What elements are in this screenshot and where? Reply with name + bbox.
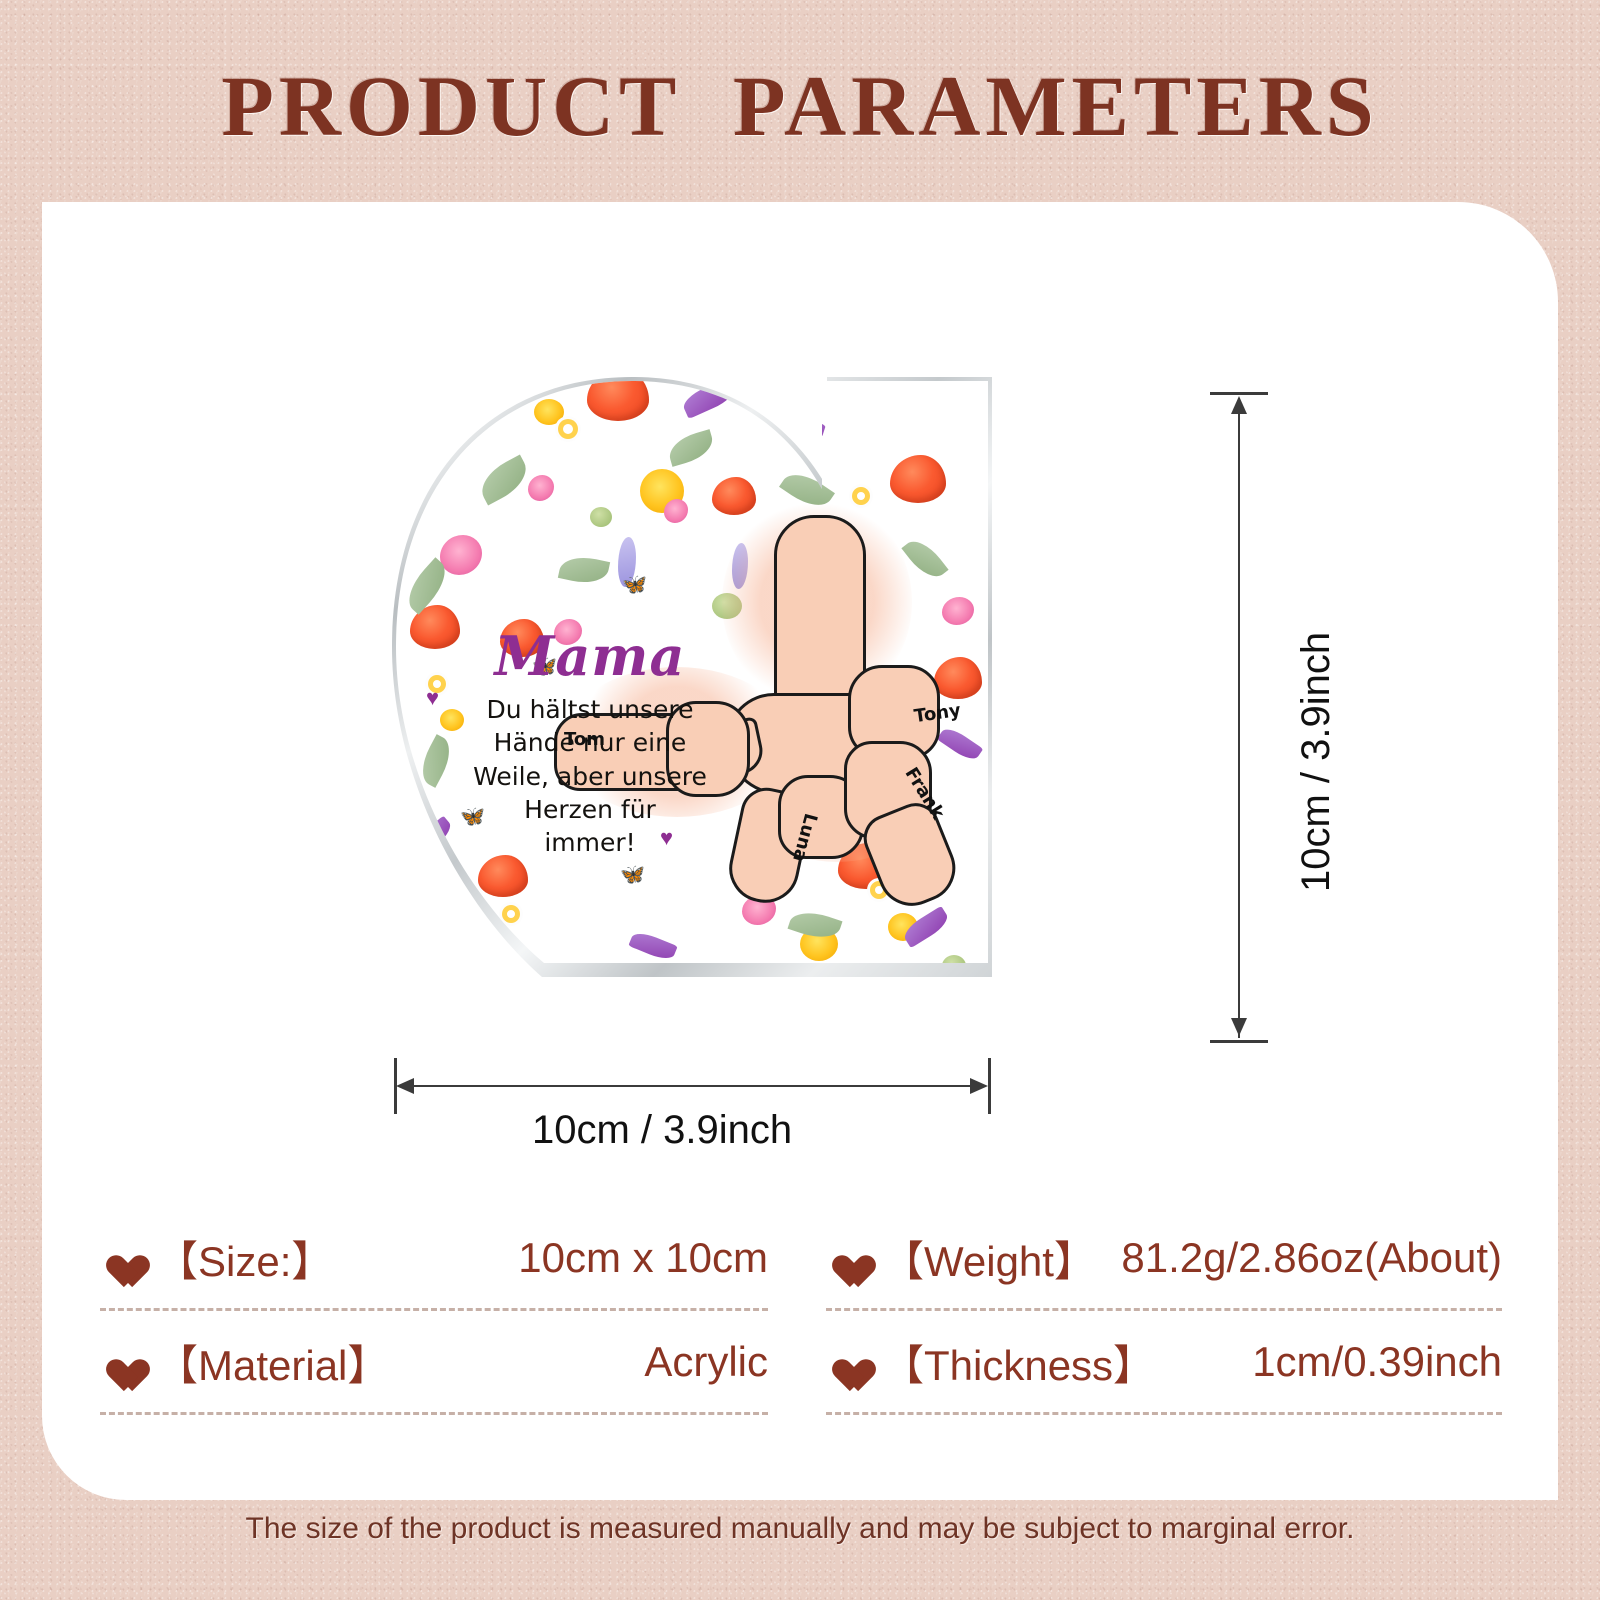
spec-divider [826, 1308, 1502, 1311]
dim-arrow-down [1231, 1018, 1247, 1036]
dim-arrow-up [1231, 396, 1247, 414]
heart-icon [826, 1345, 864, 1379]
dimension-horizontal-label: 10cm / 3.9inch [532, 1108, 792, 1153]
content-card: 🦋 🦋 🦋 🦋 🦋 🦋 🦋 🐞 🐝 [42, 202, 1558, 1500]
dim-cap-right [988, 1058, 991, 1114]
dandelion-flower [534, 399, 564, 425]
poppy-flower [478, 855, 528, 897]
verse-line: Weile, aber unsere [440, 760, 740, 793]
spec-label: 【Weight】 [882, 1228, 1096, 1289]
verse-line: Du hältst unsere [440, 693, 740, 726]
dimension-vertical-label: 10cm / 3.9inch [1294, 632, 1339, 892]
dim-arrow-right [970, 1078, 988, 1094]
spec-row-weight: 【Weight】 81.2g/2.86oz(About) [826, 1212, 1502, 1304]
page-title: PRODUCT PARAMETERS [0, 56, 1600, 156]
heart-icon [826, 1241, 864, 1275]
verse-line: immer! [440, 826, 740, 859]
heart-icon [100, 1345, 138, 1379]
daisy-flower [502, 905, 520, 923]
spec-value: Acrylic [644, 1338, 768, 1386]
dim-line [1238, 398, 1240, 1038]
spec-divider [100, 1412, 768, 1415]
purple-heart-accent: ♥ [660, 827, 673, 849]
spec-row-size: 【Size:】 10cm x 10cm [100, 1212, 768, 1304]
plaque-heading: Mama [440, 629, 740, 683]
spec-value: 81.2g/2.86oz(About) [1121, 1234, 1502, 1282]
dim-arrow-left [396, 1078, 414, 1094]
daisy-flower [558, 419, 578, 439]
pink-blossom [528, 475, 554, 501]
spec-divider [826, 1412, 1502, 1415]
green-bud [590, 507, 612, 527]
poppy-flower [890, 455, 946, 503]
pink-blossom [440, 535, 482, 575]
plaque-verse: Du hältst unsere Hände nur eine Weile, a… [440, 693, 740, 859]
leaf [665, 429, 716, 467]
purple-sprig [628, 929, 677, 963]
dimension-vertical: 10cm / 3.9inch [1202, 392, 1322, 1052]
poppy-flower [587, 369, 649, 421]
leaf [474, 455, 534, 506]
acrylic-heart-plaque: 🦋 🦋 🦋 🦋 🦋 🦋 🦋 🐞 🐝 [372, 347, 1012, 1007]
dim-cap-top [1210, 392, 1268, 395]
spec-row-material: 【Material】 Acrylic [100, 1316, 768, 1408]
specifications-grid: 【Size:】 10cm x 10cm 【Weight】 81.2g/2.86o… [42, 1212, 1558, 1442]
dim-cap-bottom [1210, 1040, 1268, 1043]
spec-value: 10cm x 10cm [518, 1234, 768, 1282]
leaf [558, 552, 610, 587]
verse-line: Herzen für [440, 793, 740, 826]
spec-label: 【Material】 [156, 1332, 389, 1393]
spec-row-thickness: 【Thickness】 1cm/0.39inch [826, 1316, 1502, 1408]
spec-label: 【Thickness】 [882, 1332, 1155, 1393]
verse-line: Hände nur eine [440, 726, 740, 759]
spec-divider [100, 1308, 768, 1311]
butterfly-icon: 🦋 [620, 865, 645, 885]
spec-value: 1cm/0.39inch [1252, 1338, 1502, 1386]
footer-note: The size of the product is measured manu… [0, 1512, 1600, 1546]
butterfly-icon: 🦋 [622, 575, 647, 595]
plaque-text-block: Mama Du hältst unsere Hände nur eine Wei… [440, 629, 740, 859]
purple-heart-accent: ♥ [426, 687, 439, 709]
spec-label: 【Size:】 [156, 1228, 333, 1289]
dim-line [400, 1085, 984, 1087]
purple-sprig [772, 410, 826, 444]
dimension-horizontal: 10cm / 3.9inch [372, 1052, 1012, 1172]
heart-icon [100, 1241, 138, 1275]
product-stage: 🦋 🦋 🦋 🦋 🦋 🦋 🦋 🐞 🐝 [42, 262, 1558, 1322]
lavender-sprig [464, 925, 479, 963]
